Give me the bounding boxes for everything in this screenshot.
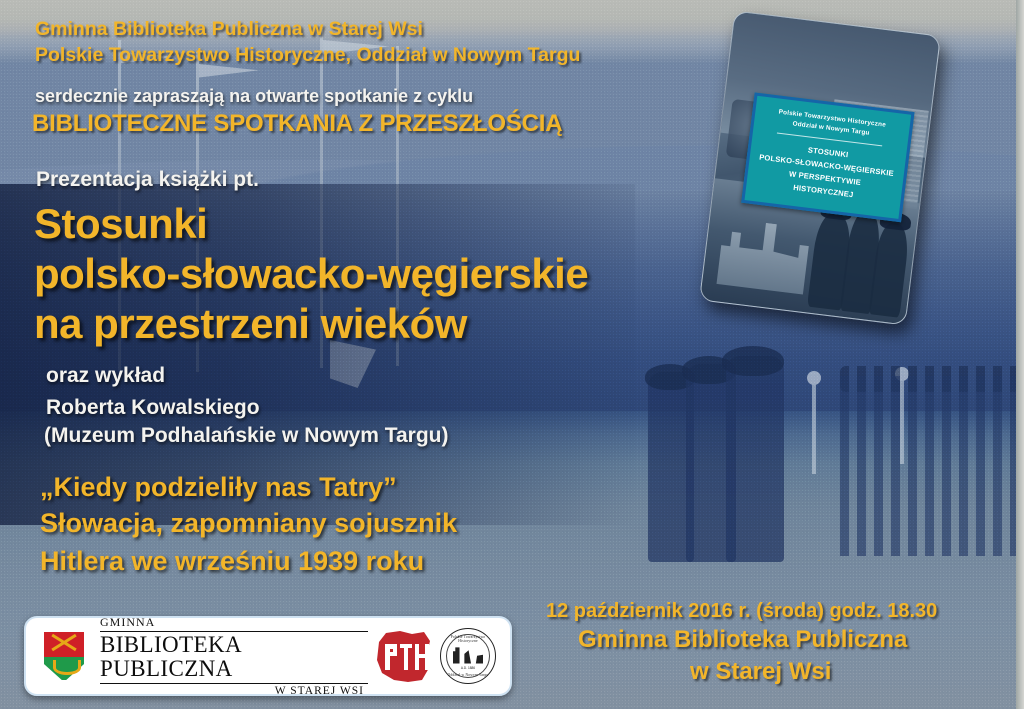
- series-name: BIBLIOTECZNE SPOTKANIA Z PRZESZŁOŚCIĄ: [32, 110, 562, 138]
- lecture-title-line-1: „Kiedy podzieliły nas Tatry”: [40, 472, 397, 503]
- lecture-speaker: Roberta Kowalskiego: [46, 396, 260, 420]
- library-wordmark-main: BIBLIOTEKA PUBLICZNA: [100, 633, 368, 681]
- book-cover-title-label: Polskie Towarzystwo Historyczne Oddział …: [741, 93, 914, 222]
- wordmark-rule: [100, 683, 368, 684]
- library-wordmark-top: GMINNA: [100, 615, 368, 630]
- lecture-title-line-3: Hitlera we wrześniu 1939 roku: [40, 546, 424, 577]
- event-poster: Gminna Biblioteka Publiczna w Starej Wsi…: [0, 0, 1024, 709]
- seal-year-text: A.D. 1886: [441, 666, 495, 670]
- event-venue-line-2: w Starej Wsi: [690, 658, 831, 686]
- event-venue-line-1: Gminna Biblioteka Publiczna: [578, 626, 907, 654]
- seal-top-text: Polskie Towarzystwo Historyczne: [441, 635, 495, 643]
- right-edge-margin: [1016, 0, 1024, 709]
- lecture-title-line-2: Słowacja, zapomniany sojusznik: [40, 508, 457, 539]
- presentation-label: Prezentacja książki pt.: [36, 168, 259, 192]
- gmina-coat-of-arms-icon: [42, 630, 86, 682]
- event-datetime: 12 październik 2016 r. (środa) godz. 18.…: [546, 600, 937, 623]
- lecture-intro: oraz wykład: [46, 364, 165, 388]
- lecture-affiliation: (Muzeum Podhalańskie w Nowym Targu): [44, 424, 449, 448]
- book-title-line-3: na przestrzeni wieków: [34, 300, 467, 348]
- horseshoe-icon: [53, 660, 81, 674]
- library-wordmark: GMINNA BIBLIOTEKA PUBLICZNA W STAREJ WSI: [100, 615, 368, 697]
- book-title-line-2: polsko-słowacko-węgierskie: [34, 250, 588, 298]
- library-wordmark-sub: W STAREJ WSI: [100, 685, 368, 697]
- invitation-line: serdecznie zapraszają na otwarte spotkan…: [35, 86, 473, 107]
- pth-poland-map-logo-icon: [372, 628, 434, 684]
- pth-branch-seal-icon: Polskie Towarzystwo Historyczne A.D. 188…: [440, 628, 496, 684]
- book-title-line-1: Stosunki: [34, 200, 207, 248]
- organizer-line-2: Polskie Towarzystwo Historyczne, Oddział…: [35, 44, 580, 67]
- organizer-line-1: Gminna Biblioteka Publiczna w Starej Wsi: [35, 18, 423, 41]
- logo-bar: GMINNA BIBLIOTEKA PUBLICZNA W STAREJ WSI: [24, 616, 512, 696]
- book-cover-image: Polskie Towarzystwo Historyczne Oddział …: [699, 10, 941, 325]
- seal-bottom-text: Oddział w Nowym Targu: [441, 673, 495, 677]
